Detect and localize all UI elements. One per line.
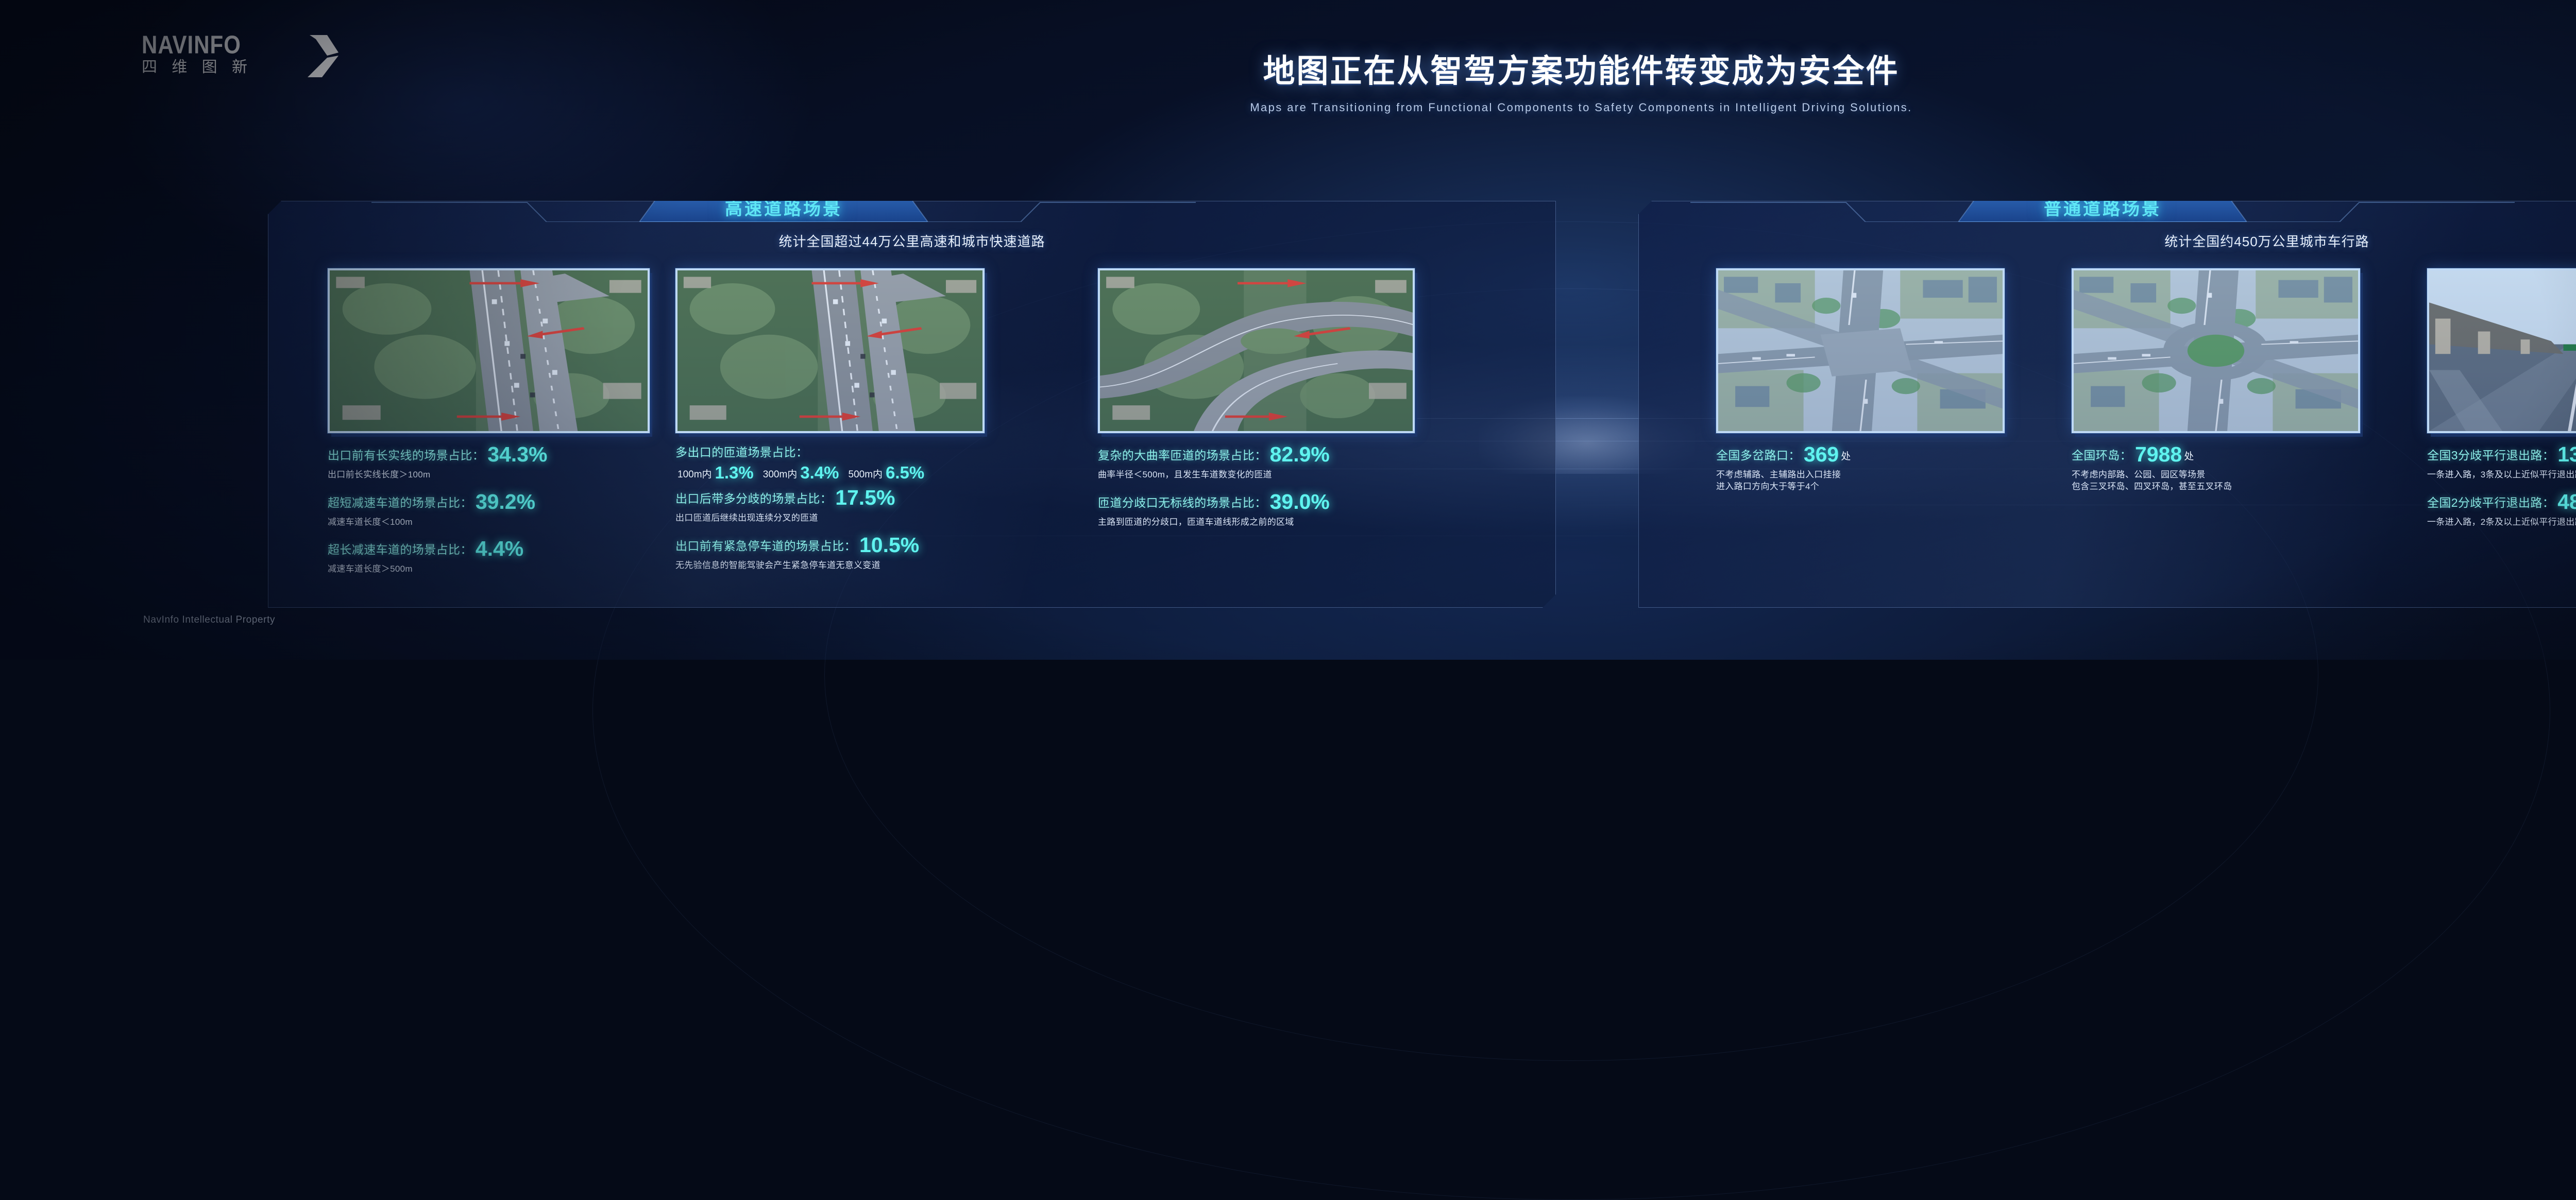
scenario-thumbnail[interactable] <box>328 268 650 433</box>
section-title: 高速道路场景 <box>725 195 842 220</box>
scenario-card: 全国多岔路口：369处不考虑辅路、主辅路出入口挂接进入路口方向大于等于4个 <box>1716 268 2025 501</box>
section-title: 普通道路场景 <box>2044 195 2161 220</box>
metric-row: 全国环岛：7988处 <box>2072 442 2381 467</box>
metric-inline-value: 1.3% <box>715 463 754 482</box>
page-subtitle: Maps are Transitioning from Functional C… <box>0 101 2576 114</box>
metric-label: 出口前有紧急停车道的场景占比： <box>675 539 856 553</box>
metric-label: 全国多岔路口： <box>1716 449 1801 462</box>
metric-label: 多出口的匝道场景占比： <box>675 445 808 459</box>
metric-value: 10.5% <box>859 533 919 557</box>
metric-inline-prefix: 100m内 <box>677 469 712 480</box>
metric-label: 超长减速车道的场景占比： <box>328 543 472 556</box>
metric-label: 全国2分歧平行退出路： <box>2427 496 2554 509</box>
section-subtitle: 统计全国约450万公里城市车行路 <box>1639 231 2576 250</box>
metric-note: 一条进入路，3条及以上近似平行退出路 <box>2427 469 2576 482</box>
scenario-thumbnail[interactable] <box>1098 268 1415 433</box>
scenario-thumbnail[interactable] <box>675 268 985 433</box>
scenario-card: 多出口的匝道场景占比：100m内1.3%300m内3.4%500m内6.5%出口… <box>675 268 1005 580</box>
metric-row: 复杂的大曲率匝道的场景占比：82.9% <box>1098 442 1435 467</box>
metric-unit: 处 <box>2184 451 2194 462</box>
metric-row: 全国多岔路口：369处 <box>1716 442 2025 467</box>
metric-list: 多出口的匝道场景占比：100m内1.3%300m内3.4%500m内6.5%出口… <box>675 442 1005 572</box>
section-banner: 高速道路场景 <box>639 192 928 222</box>
streetview-parallel-exit-image <box>2429 270 2576 431</box>
metric-value: 7988 <box>2135 442 2182 466</box>
metric-note: 出口前长实线长度＞100m <box>328 469 670 482</box>
metric-list: 全国多岔路口：369处不考虑辅路、主辅路出入口挂接进入路口方向大于等于4个 <box>1716 442 2025 493</box>
metric-row: 全国3分歧平行退出路：1395处 <box>2427 442 2576 467</box>
metric-note: 一条进入路，2条及以上近似平行退出路 <box>2427 516 2576 529</box>
metric-label: 出口后带多分歧的场景占比： <box>675 492 832 505</box>
metric-note: 主路到匝道的分歧口，匝道车道线形成之前的区域 <box>1098 516 1435 529</box>
metric-value: 34.3% <box>487 442 547 466</box>
metric-row: 匝道分歧口无标线的场景占比：39.0% <box>1098 490 1435 514</box>
metric-note: 减速车道长度＜100m <box>328 516 670 529</box>
section-subtitle: 统计全国超过44万公里高速和城市快速道路 <box>268 231 1555 250</box>
satellite-multi-fork-intersection-image <box>1718 270 2003 431</box>
metric-label: 超短减速车道的场景占比： <box>328 496 472 509</box>
metric-inline-prefix: 300m内 <box>763 469 798 480</box>
metric-value: 1395 <box>2557 442 2576 466</box>
metric-value: 17.5% <box>835 486 895 509</box>
page-title: 地图正在从智驾方案功能件转变成为安全件 <box>0 56 2576 88</box>
satellite-highway-exit-image <box>330 270 648 431</box>
metric-unit: 处 <box>1841 451 1851 462</box>
satellite-curved-interchange-image <box>1100 270 1413 431</box>
metric-note: 曲率半径＜500m，且发生车道数变化的匝道 <box>1098 469 1435 482</box>
metric-value: 369 <box>1804 442 1839 466</box>
section-banner: 普通道路场景 <box>1958 192 2247 222</box>
metric-value: 39.2% <box>476 490 535 513</box>
scenario-thumbnail[interactable] <box>2427 268 2576 433</box>
metric-inline-prefix: 500m内 <box>849 469 883 480</box>
satellite-multi-ramp-image <box>677 270 982 431</box>
footer-copyright: NavInfo Intellectual Property <box>143 614 275 626</box>
metric-row: 多出口的匝道场景占比： <box>675 442 1005 460</box>
metric-list: 全国3分歧平行退出路：1395处一条进入路，3条及以上近似平行退出路全国2分歧平… <box>2427 442 2576 528</box>
metric-label: 匝道分歧口无标线的场景占比： <box>1098 496 1267 509</box>
metric-value: 48125 <box>2557 490 2576 513</box>
metric-note: 无先验信息的智能驾驶会产生紧急停车道无意义变道 <box>675 559 1005 572</box>
metric-inline-row: 100m内1.3%300m内3.4%500m内6.5% <box>675 463 1005 483</box>
metric-note: 减速车道长度＞500m <box>328 563 670 576</box>
scenario-thumbnail[interactable] <box>1716 268 2005 433</box>
metric-list: 出口前有长实线的场景占比：34.3%出口前长实线长度＞100m超短减速车道的场景… <box>328 442 670 576</box>
metric-label: 出口前有长实线的场景占比： <box>328 449 484 462</box>
scenario-thumbnail[interactable] <box>2072 268 2360 433</box>
metric-note: 出口匝道后继续出现连续分叉的匝道 <box>675 512 1005 525</box>
metric-label: 复杂的大曲率匝道的场景占比： <box>1098 449 1267 462</box>
scenario-card: 全国3分歧平行退出路：1395处一条进入路，3条及以上近似平行退出路全国2分歧平… <box>2427 268 2576 537</box>
metric-note: 包含三叉环岛、四叉环岛，甚至五叉环岛 <box>2072 481 2381 493</box>
metric-inline-item: 300m内3.4% <box>761 463 839 483</box>
scenario-card: 全国环岛：7988处不考虑内部路、公园、园区等场景包含三叉环岛、四叉环岛，甚至五… <box>2072 268 2381 501</box>
metric-list: 复杂的大曲率匝道的场景占比：82.9%曲率半径＜500m，且发生车道数变化的匝道… <box>1098 442 1435 528</box>
metric-note: 不考虑辅路、主辅路出入口挂接 <box>1716 469 2025 482</box>
scenario-card: 复杂的大曲率匝道的场景占比：82.9%曲率半径＜500m，且发生车道数变化的匝道… <box>1098 268 1435 537</box>
metric-row: 出口后带多分歧的场景占比：17.5% <box>675 486 1005 510</box>
metric-row: 出口前有紧急停车道的场景占比：10.5% <box>675 533 1005 557</box>
metric-row: 全国2分歧平行退出路：48125处 <box>2427 490 2576 514</box>
panel-highway-scenarios: 高速道路场景 统计全国超过44万公里高速和城市快速道路 <box>268 201 1556 608</box>
metric-list: 全国环岛：7988处不考虑内部路、公园、园区等场景包含三叉环岛、四叉环岛，甚至五… <box>2072 442 2381 493</box>
metric-inline-value: 3.4% <box>800 463 839 482</box>
metric-row: 超长减速车道的场景占比：4.4% <box>328 537 670 561</box>
metric-value: 39.0% <box>1270 490 1330 513</box>
metric-inline-value: 6.5% <box>886 463 924 482</box>
title-block: 地图正在从智驾方案功能件转变成为安全件 Maps are Transitioni… <box>0 56 2576 114</box>
metric-note: 不考虑内部路、公园、园区等场景 <box>2072 469 2381 482</box>
metric-value: 4.4% <box>476 537 523 560</box>
metric-row: 超短减速车道的场景占比：39.2% <box>328 490 670 514</box>
panel-urban-scenarios: 普通道路场景 统计全国约450万公里城市车行路 <box>1638 201 2576 608</box>
metric-note: 进入路口方向大于等于4个 <box>1716 481 2025 493</box>
metric-label: 全国3分歧平行退出路： <box>2427 449 2554 462</box>
metric-inline-item: 100m内1.3% <box>675 463 754 483</box>
satellite-roundabout-image <box>2074 270 2358 431</box>
metric-row: 出口前有长实线的场景占比：34.3% <box>328 442 670 467</box>
metric-inline-item: 500m内6.5% <box>846 463 925 483</box>
metric-label: 全国环岛： <box>2072 449 2132 462</box>
metric-value: 82.9% <box>1270 442 1330 466</box>
scenario-card: 出口前有长实线的场景占比：34.3%出口前长实线长度＞100m超短减速车道的场景… <box>328 268 670 584</box>
